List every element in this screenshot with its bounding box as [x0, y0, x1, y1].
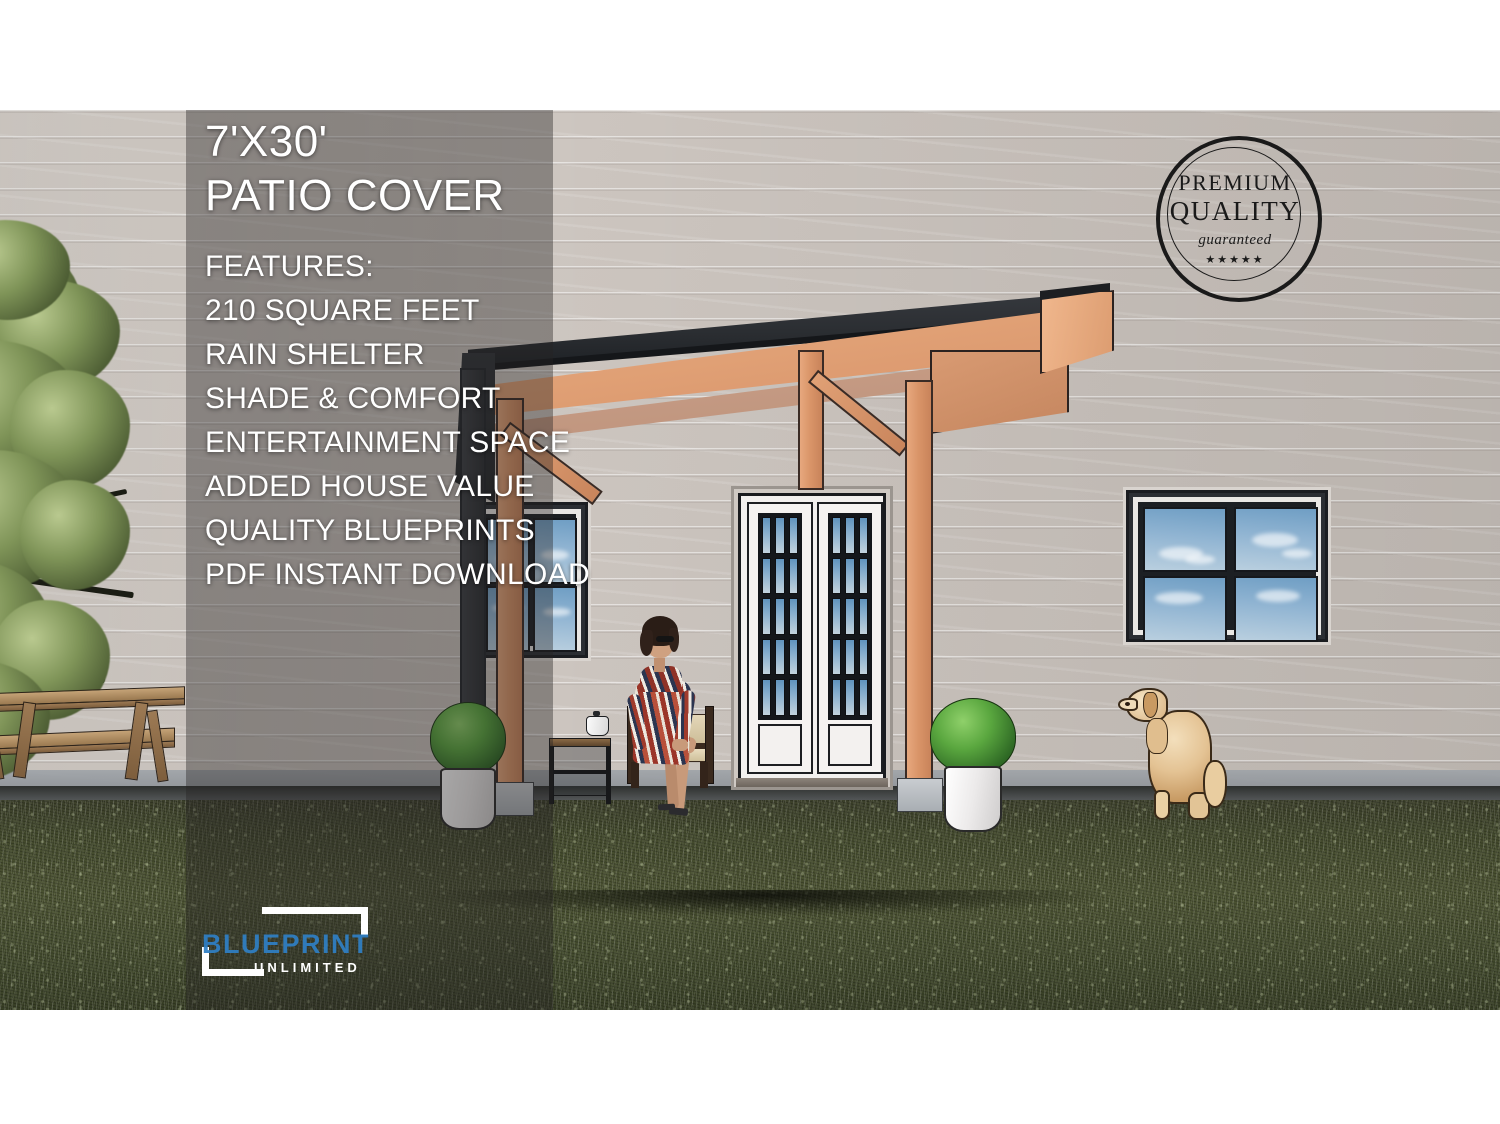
badge-stars: ★★★★★	[1156, 253, 1314, 266]
shrub-right	[930, 698, 1016, 774]
logo-sub-text: UNLIMITED	[254, 960, 372, 975]
product-image-canvas: 7'X30' PATIO COVER FEATURES: 210 SQUARE …	[0, 0, 1500, 1124]
door-threshold	[736, 778, 888, 787]
badge-line-premium: PREMIUM	[1156, 170, 1314, 196]
premium-quality-badge: PREMIUM QUALITY guaranteed ★★★★★	[1156, 136, 1314, 294]
support-post-right	[905, 380, 933, 792]
window-pane	[1143, 576, 1227, 642]
window-right	[1126, 490, 1328, 642]
feature-item: ADDED HOUSE VALUE	[205, 472, 565, 502]
brand-logo[interactable]: BLUEPRINT UNLIMITED	[200, 903, 370, 983]
badge-line-guaranteed: guaranteed	[1156, 232, 1314, 249]
window-right-frame	[1133, 497, 1321, 635]
feature-item: PDF INSTANT DOWNLOAD	[205, 560, 565, 590]
door-leaf-right[interactable]	[817, 502, 883, 774]
french-doors[interactable]	[738, 493, 886, 783]
pot-right	[944, 766, 1002, 832]
window-pane	[1234, 507, 1318, 572]
door-glass-right	[828, 513, 872, 720]
door-leaf-left[interactable]	[747, 502, 813, 774]
window-pane	[1234, 576, 1318, 642]
feature-item: RAIN SHELTER	[205, 340, 565, 370]
sunglasses	[656, 636, 674, 642]
badge-line-quality: QUALITY	[1156, 196, 1314, 227]
marketing-text-block: 7'X30' PATIO COVER FEATURES: 210 SQUARE …	[205, 120, 565, 604]
door-kick-panel	[758, 724, 802, 766]
features-label: FEATURES:	[205, 252, 565, 282]
product-dimensions: 7'X30'	[205, 120, 565, 164]
door-glass-left	[758, 513, 802, 720]
logo-brand-text: BLUEPRINT	[202, 929, 368, 960]
feature-item: SHADE & COMFORT	[205, 384, 565, 414]
window-pane	[1143, 507, 1227, 572]
feature-item: QUALITY BLUEPRINTS	[205, 516, 565, 546]
feature-item: 210 SQUARE FEET	[205, 296, 565, 326]
logo-bracket-top	[262, 907, 368, 914]
product-title: PATIO COVER	[205, 174, 565, 218]
post-base-right	[897, 778, 943, 812]
feature-item: ENTERTAINMENT SPACE	[205, 428, 565, 458]
door-kick-panel	[828, 724, 872, 766]
